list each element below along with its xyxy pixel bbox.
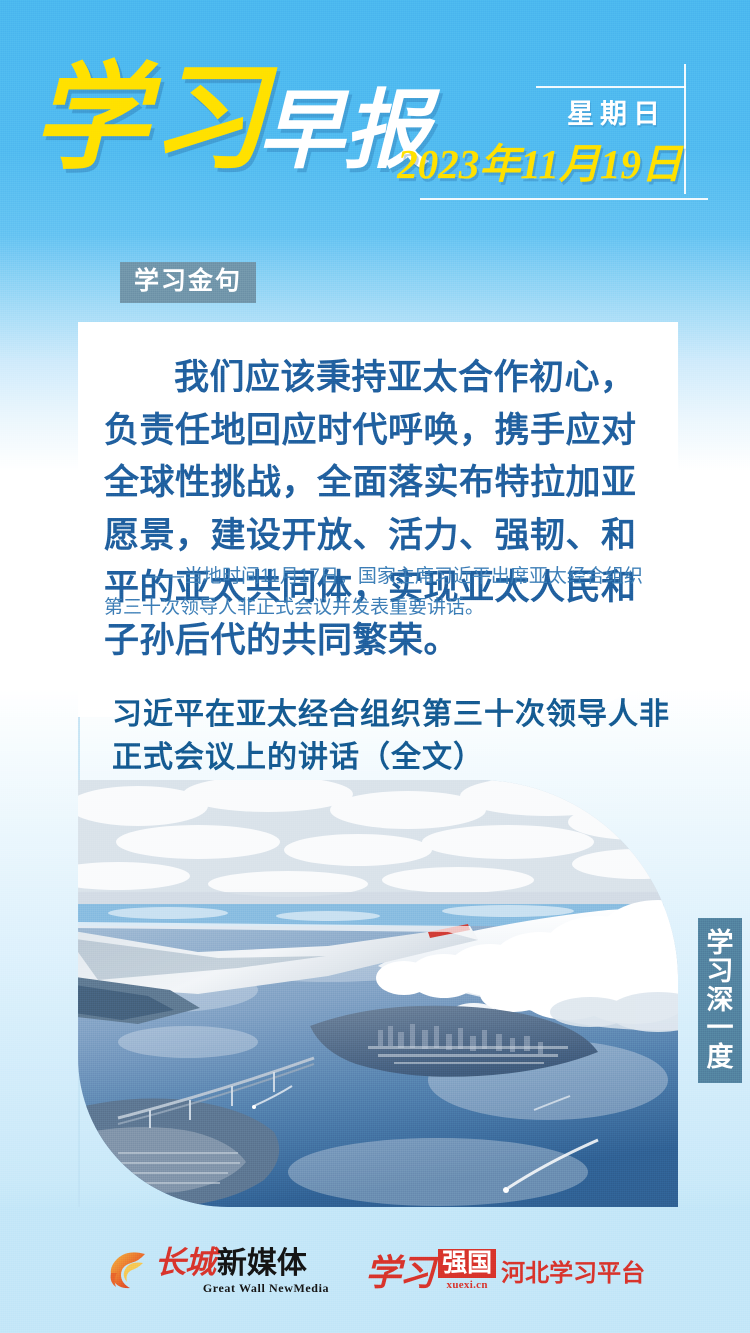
- great-wall-cn-red: 长城: [155, 1247, 215, 1278]
- side-tab-char-4: 度: [707, 1044, 734, 1072]
- flame-swirl-icon: [105, 1249, 149, 1291]
- xuexi-badge: 强国: [438, 1249, 496, 1278]
- date-block: 星期日 2023年11月19日: [418, 64, 708, 194]
- xuexi-platform-label: 河北学习平台: [501, 1253, 645, 1288]
- side-tab-deep-study[interactable]: 学 习 深 一 度: [698, 918, 742, 1083]
- side-tab-char-1: 习: [707, 958, 734, 986]
- great-wall-newmedia-logo[interactable]: 长城 新媒体 Great Wall NewMedia: [105, 1247, 329, 1294]
- content-card: 学习金句 我们应该秉持亚太合作初心，负责任地回应时代呼唤，携手应对全球性挑战，全…: [78, 262, 678, 1207]
- side-tab-char-3: 一: [707, 1015, 734, 1043]
- great-wall-cn-black: 新媒体: [217, 1249, 307, 1279]
- xuexi-script: 学习: [365, 1244, 433, 1296]
- date-label: 2023年11月19日: [397, 130, 682, 190]
- weekday-label: 星期日: [567, 92, 666, 131]
- article-photo[interactable]: [78, 780, 678, 1207]
- publication-logo: 学习 早报: [32, 62, 430, 178]
- footer: 长城 新媒体 Great Wall NewMedia 学习 强国 xuexi.c…: [0, 1207, 750, 1333]
- decorative-rule-vertical: [684, 64, 686, 194]
- aerial-photo-illustration: [78, 780, 678, 1207]
- poster-root: 学习 早报 星期日 2023年11月19日 学习金句 我们应该秉持亚太合作初心，…: [0, 0, 750, 1333]
- decorative-rule-bottom: [420, 198, 708, 200]
- side-tab-char-0: 学: [707, 930, 734, 958]
- decorative-rule-top: [536, 86, 686, 88]
- logo-primary-text: 学习: [32, 62, 268, 178]
- quote-attribution: ——当地时间11月17日，国家主席习近平出席亚太经合组织第三十次领导人非正式会议…: [104, 562, 660, 624]
- xuexi-qiangguo-logo[interactable]: 学习 强国 xuexi.cn 河北学习平台: [365, 1244, 645, 1296]
- xuexi-badge-stack: 强国 xuexi.cn: [438, 1249, 496, 1291]
- great-wall-en: Great Wall NewMedia: [203, 1282, 329, 1294]
- masthead: 学习 早报 星期日 2023年11月19日: [0, 0, 750, 235]
- xuexi-url: xuexi.cn: [447, 1280, 488, 1291]
- great-wall-wordmark: 长城 新媒体 Great Wall NewMedia: [155, 1247, 329, 1294]
- page-title[interactable]: 习近平在亚太经合组织第三十次领导人非正式会议上的讲话（全文）: [112, 694, 672, 779]
- status-badge: 学习金句: [120, 262, 256, 303]
- side-tab-char-2: 深: [707, 987, 734, 1015]
